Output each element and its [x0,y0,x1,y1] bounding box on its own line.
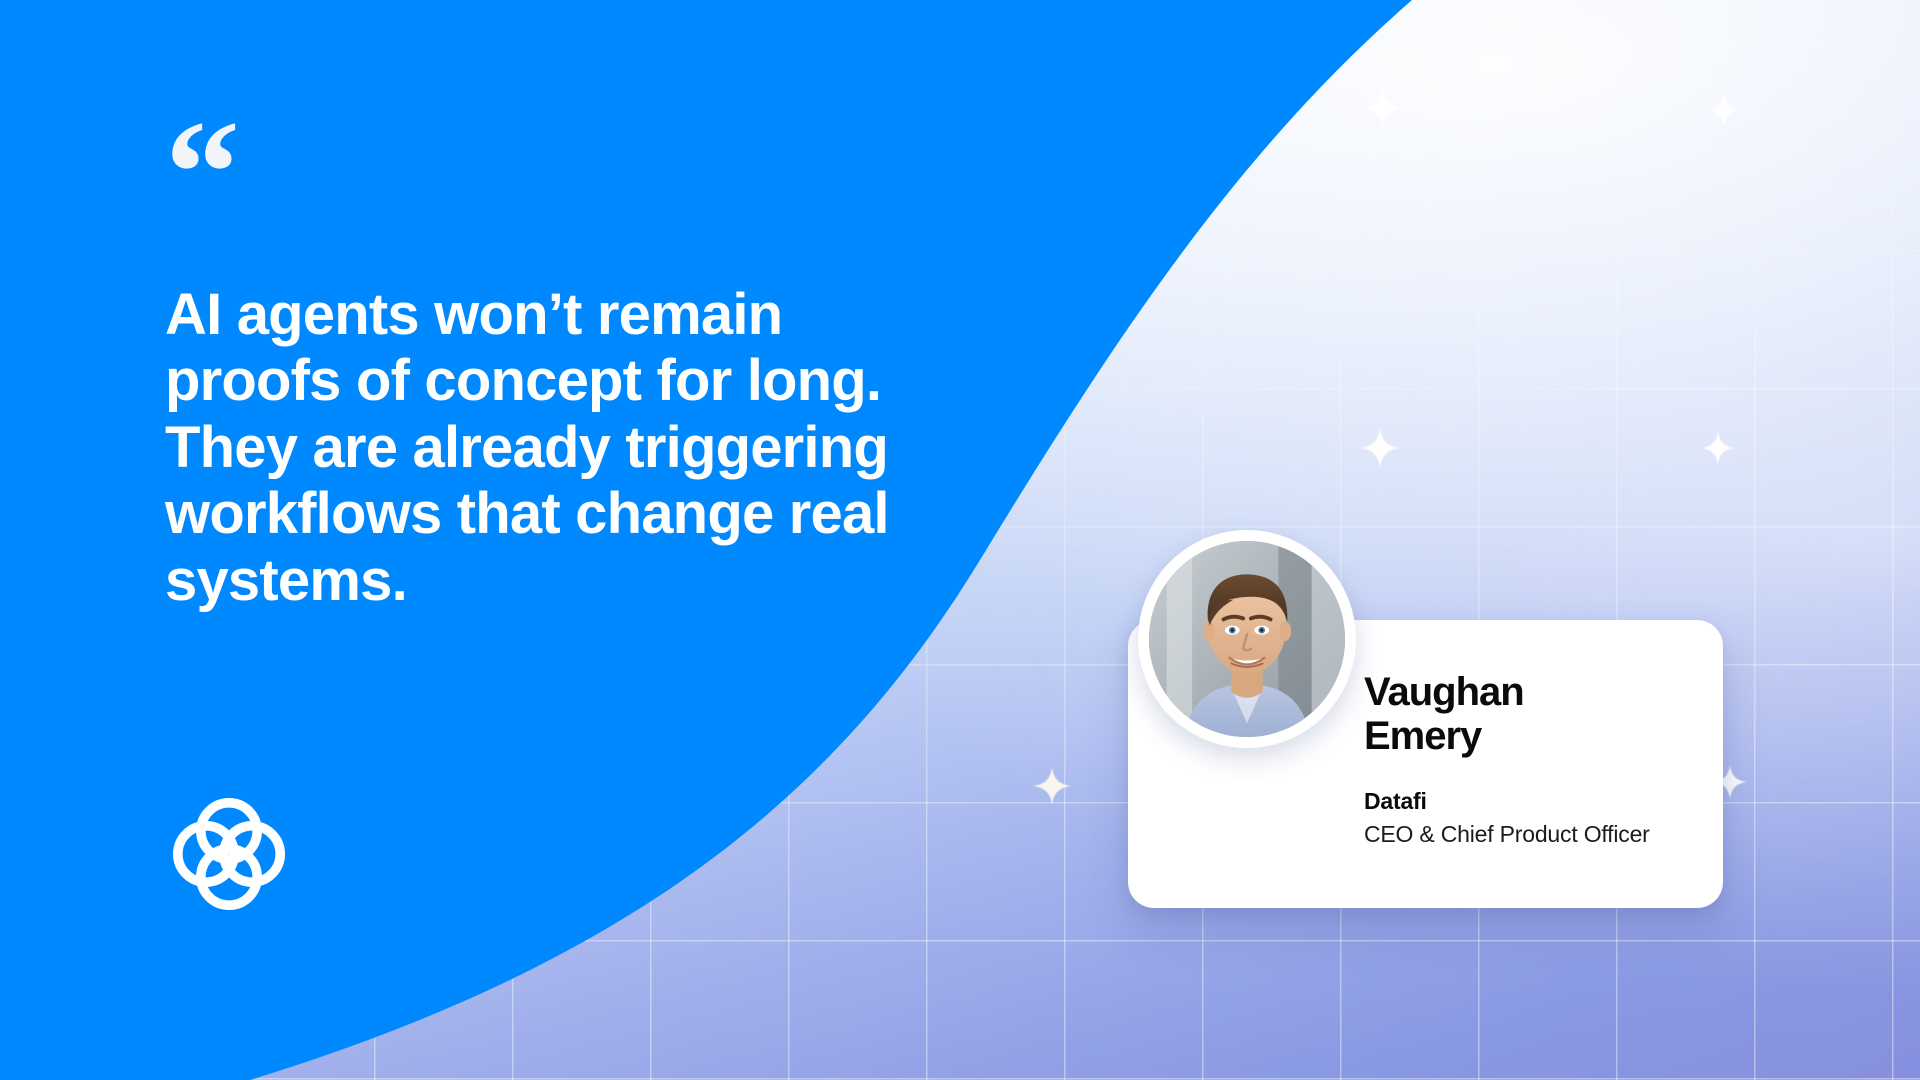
quote-block: “ AI agents won’t remain proofs of conce… [165,112,1065,614]
person-name: Vaughan Emery [1364,670,1705,758]
person-role: CEO & Chief Product Officer [1364,821,1705,848]
quote-graphic: “ AI agents won’t remain proofs of conce… [0,0,1920,1080]
quote-text: AI agents won’t remain proofs of concept… [165,282,1045,614]
person-company: Datafi [1364,788,1705,815]
attribution-text: Vaughan Emery Datafi CEO & Chief Product… [1364,670,1705,848]
avatar-photo [1149,541,1345,737]
avatar [1138,530,1356,748]
datafi-knot-logo-icon [165,790,293,918]
quote-mark-icon: “ [165,112,1065,190]
